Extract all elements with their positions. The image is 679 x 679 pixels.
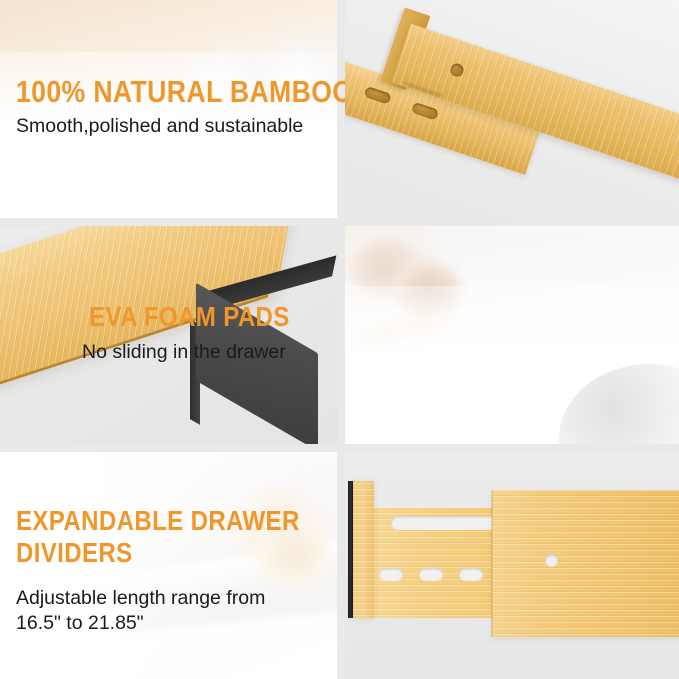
round-hole: [545, 554, 558, 567]
headline-expandable-dividers-line2: DIVIDERS: [16, 538, 132, 568]
subline-expandable-dividers-line1: Adjustable length range from: [16, 586, 265, 611]
black-eva-foam-strip: [348, 481, 353, 618]
oval-slot: [379, 568, 403, 581]
board-seam-line: [491, 490, 493, 637]
panel-divider-product: [345, 452, 679, 679]
panel-eva-foam: [345, 226, 679, 444]
wide-bamboo-board: [492, 490, 679, 637]
subline-eva-foam: No sliding in the drawer: [82, 340, 286, 365]
oval-slot: [459, 568, 483, 581]
product-infographic: 100% NATURAL BAMBOO Smooth,polished and …: [0, 0, 679, 679]
adjustment-hole: [449, 62, 465, 78]
panel-divider-photo: [345, 0, 679, 218]
rail-slot: [364, 86, 392, 105]
headline-natural-bamboo: 100% NATURAL BAMBOO: [16, 76, 353, 109]
subline-natural-bamboo: Smooth,polished and sustainable: [16, 114, 303, 139]
panel-natural-bamboo: [0, 0, 337, 218]
subline-expandable-dividers-line2: 16.5" to 21.85": [16, 611, 144, 636]
oval-slot: [419, 568, 443, 581]
headline-eva-foam: EVA FOAM PADS: [89, 302, 290, 332]
end-post: [351, 481, 374, 618]
rail-slot: [411, 102, 439, 121]
headline-expandable-dividers-line1: EXPANDABLE DRAWER: [16, 506, 300, 536]
panel-foam-closeup: [0, 226, 337, 444]
